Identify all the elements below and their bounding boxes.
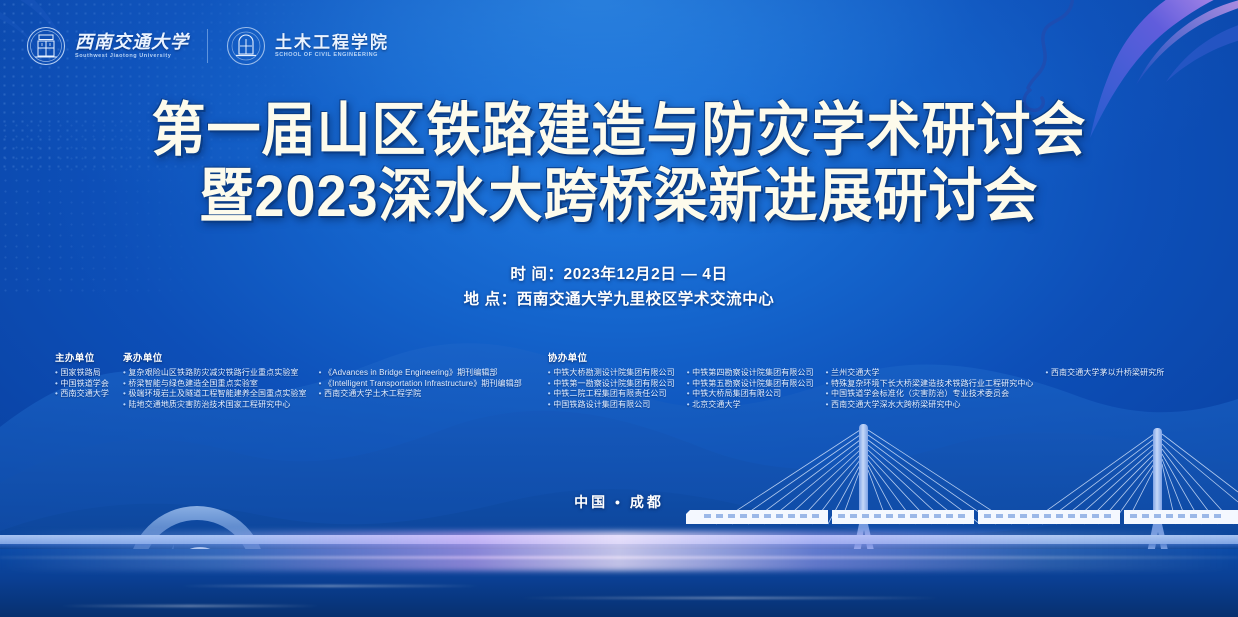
logo-swjtu[interactable]: 西南交通大学 Southwest Jiaotong University: [26, 26, 189, 66]
event-time: 时 间：2023年12月2日 — 4日: [0, 262, 1238, 287]
logo-swjtu-name-en: Southwest Jiaotong University: [75, 53, 189, 59]
list-item: 兰州交通大学: [826, 368, 1034, 379]
logo-school-of-civil-engineering[interactable]: 土木工程学院 SCHOOL OF CIVIL ENGINEERING: [226, 26, 389, 66]
list-item: 复杂艰险山区铁路防灾减灾铁路行业重点实验室: [123, 368, 307, 379]
logo-divider: [207, 29, 208, 63]
organizer-list: 西南交通大学茅以升桥梁研究所: [1046, 368, 1165, 410]
list-item: 西南交通大学: [55, 389, 109, 400]
list-item: 陆地交通地质灾害防治技术国家工程研究中心: [123, 400, 307, 411]
logo-school-name-cn: 土木工程学院: [275, 34, 389, 52]
list-item: 中铁大桥勘测设计院集团有限公司: [548, 368, 675, 379]
organizer-list: 国家铁路局 中国铁道学会 西南交通大学: [55, 368, 109, 400]
list-item: 西南交通大学深水大跨桥梁研究中心: [826, 400, 1034, 411]
list-item: 《Intelligent Transportation Infrastructu…: [319, 379, 522, 390]
list-item: 国家铁路局: [55, 368, 109, 379]
logo-swjtu-name-cn: 西南交通大学: [75, 33, 189, 52]
conference-title: 第一届山区铁路建造与防灾学术研讨会 暨2023深水大跨桥梁新进展研讨会: [0, 98, 1238, 224]
organizer-list: 兰州交通大学 特殊复杂环境下长大桥梁建造技术铁路行业工程研究中心 中国铁道学会标…: [826, 368, 1034, 410]
organizer-sections: 主办单位 国家铁路局 中国铁道学会 西南交通大学 承办单位 复杂艰险山区铁路防灾…: [55, 350, 1218, 410]
high-speed-train-icon: [686, 510, 1238, 524]
list-item: 西南交通大学土木工程学院: [319, 389, 522, 400]
organizer-list: 《Advances in Bridge Engineering》期刊编辑部 《I…: [319, 368, 522, 410]
organizer-heading: 承办单位: [123, 350, 522, 364]
school-seal-icon: [226, 26, 266, 66]
list-item: 北京交通大学: [687, 400, 814, 411]
list-item: 中铁第一勘察设计院集团有限公司: [548, 379, 675, 390]
list-item: 特殊复杂环境下长大桥梁建造技术铁路行业工程研究中心: [826, 379, 1034, 390]
water-streak: [180, 585, 480, 587]
water-streak: [520, 597, 940, 599]
list-item: 中国铁路设计集团有限公司: [548, 400, 675, 411]
water-reflection-glow: [0, 531, 1238, 571]
title-line-2: 暨2023深水大跨桥梁新进展研讨会: [0, 164, 1238, 229]
list-item: 中国铁道学会: [55, 379, 109, 390]
list-item: 中铁大桥局集团有限公司: [687, 389, 814, 400]
list-item: 中铁第五勘察设计院集团有限公司: [687, 379, 814, 390]
organizer-list: 中铁第四勘察设计院集团有限公司 中铁第五勘察设计院集团有限公司 中铁大桥局集团有…: [687, 368, 814, 410]
logo-school-name-en: SCHOOL OF CIVIL ENGINEERING: [275, 52, 389, 58]
list-item: 桥梁智能与绿色建造全国重点实验室: [123, 379, 307, 390]
list-item: 《Advances in Bridge Engineering》期刊编辑部: [319, 368, 522, 379]
university-seal-icon: [26, 26, 66, 66]
list-item: 极端环境岩土及隧道工程智能建养全国重点实验室: [123, 389, 307, 400]
organizer-group-coorganizer: 协办单位 中铁大桥勘测设计院集团有限公司 中铁第一勘察设计院集团有限公司 中铁二…: [548, 350, 1165, 410]
organizer-heading: 主办单位: [55, 350, 109, 364]
event-info: 时 间：2023年12月2日 — 4日 地 点：西南交通大学九里校区学术交流中心: [0, 262, 1238, 312]
organizer-group-host: 主办单位 国家铁路局 中国铁道学会 西南交通大学: [55, 350, 109, 400]
list-item: 中铁二院工程集团有限责任公司: [548, 389, 675, 400]
title-line-1: 第一届山区铁路建造与防灾学术研讨会: [0, 98, 1238, 163]
organizer-group-undertaker: 承办单位 复杂艰险山区铁路防灾减灾铁路行业重点实验室 桥梁智能与绿色建造全国重点…: [123, 350, 522, 410]
list-item: 西南交通大学茅以升桥梁研究所: [1046, 368, 1165, 379]
list-item: 中国铁道学会标准化（灾害防治）专业技术委员会: [826, 389, 1034, 400]
water-streak: [60, 605, 320, 607]
organizer-list: 中铁大桥勘测设计院集团有限公司 中铁第一勘察设计院集团有限公司 中铁二院工程集团…: [548, 368, 675, 410]
organizer-heading: 协办单位: [548, 350, 1165, 364]
list-item: 中铁第四勘察设计院集团有限公司: [687, 368, 814, 379]
organizer-list: 复杂艰险山区铁路防灾减灾铁路行业重点实验室 桥梁智能与绿色建造全国重点实验室 极…: [123, 368, 307, 410]
header-logos: 西南交通大学 Southwest Jiaotong University 土木工…: [26, 26, 389, 66]
conference-banner: 西南交通大学 Southwest Jiaotong University 土木工…: [0, 0, 1238, 617]
event-place: 地 点：西南交通大学九里校区学术交流中心: [0, 287, 1238, 312]
city-label: 中国 • 成都: [0, 492, 1238, 512]
